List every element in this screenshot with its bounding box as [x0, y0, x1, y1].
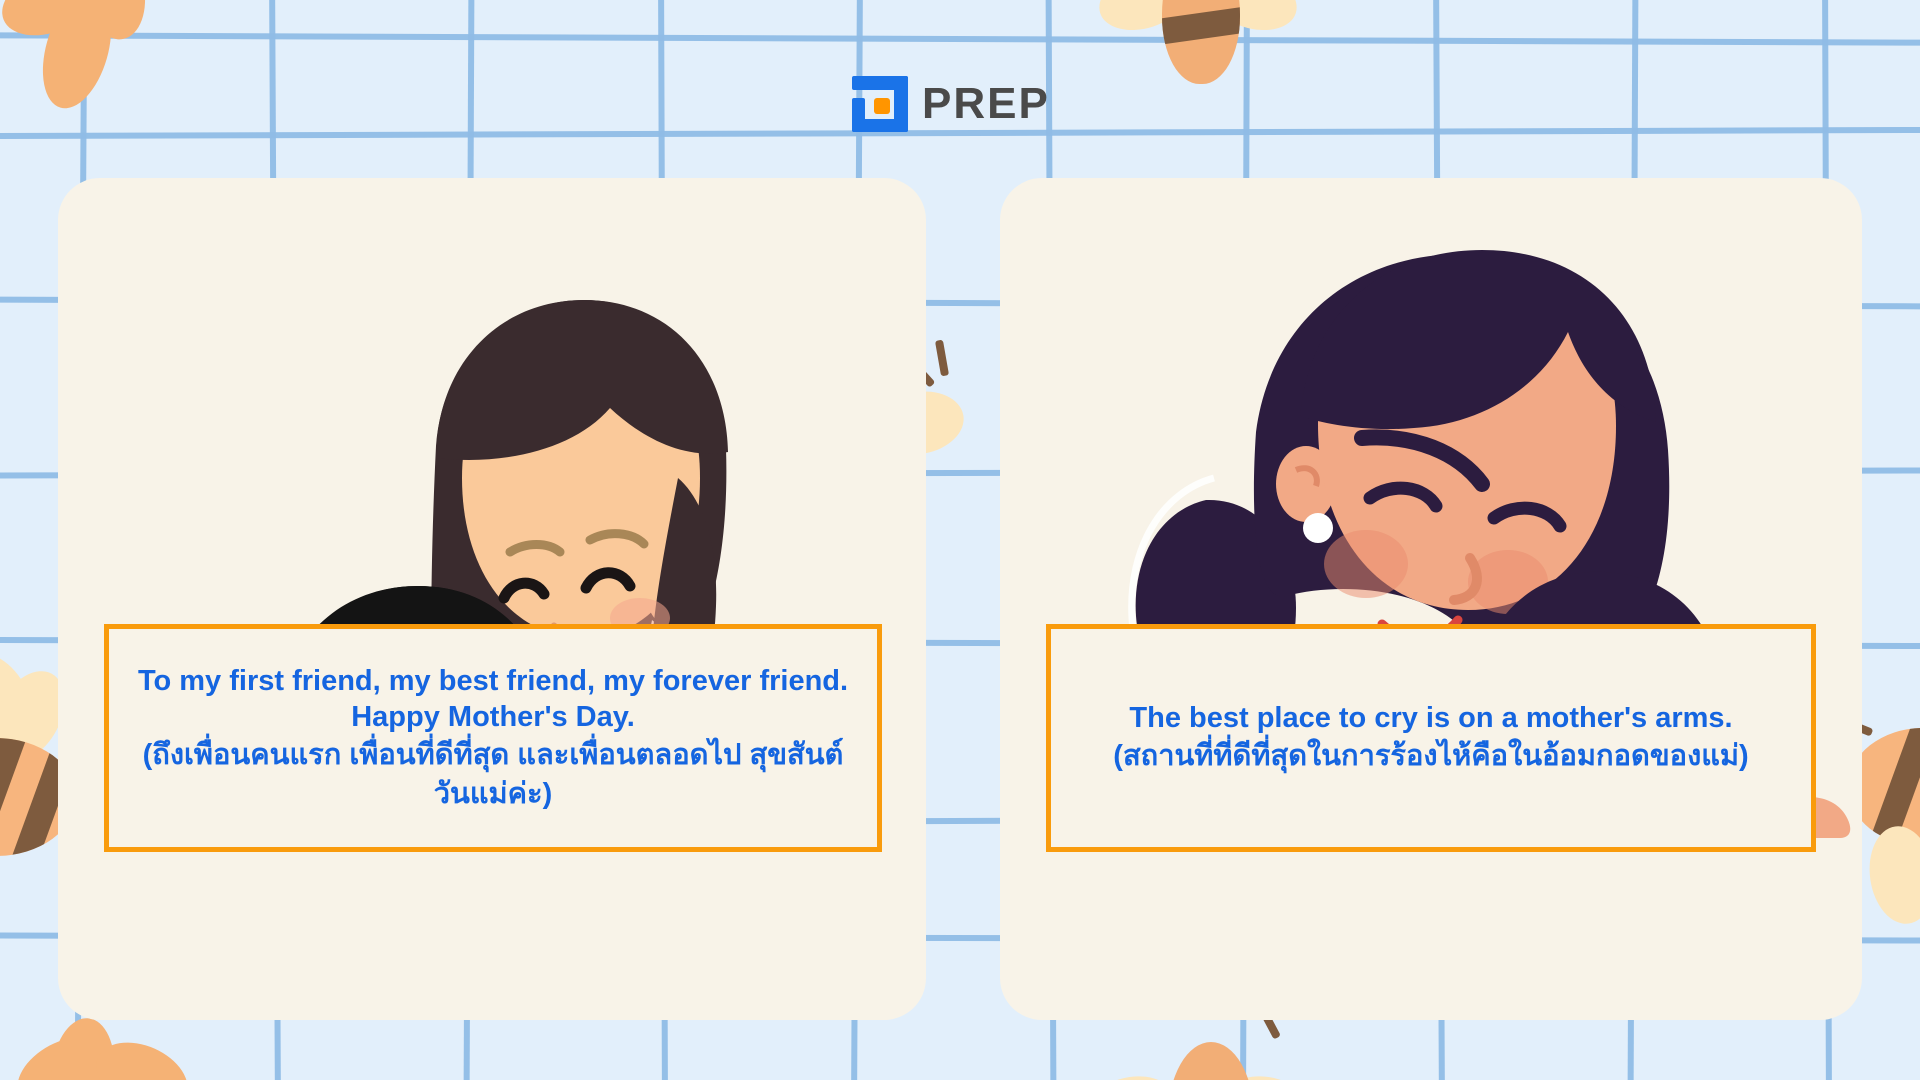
flower-top-left	[0, 0, 190, 140]
bee-body	[1168, 1042, 1254, 1080]
bee-bottom-center	[1120, 1020, 1310, 1080]
logo-bar-bottom	[852, 119, 908, 132]
grid-line-horizontal	[0, 32, 1920, 46]
logo-orange-square	[874, 98, 890, 114]
quote-box-right: The best place to cry is on a mother's a…	[1046, 624, 1816, 852]
quote-english: To my first friend, my best friend, my f…	[125, 663, 861, 736]
bee-body	[1162, 0, 1240, 84]
bee-antenna	[935, 340, 949, 377]
prep-bracket-logo-icon	[852, 76, 908, 132]
quote-thai: (ถึงเพื่อนคนแรก เพื่อนที่ดีที่สุด และเพื…	[125, 736, 861, 814]
brand-logo[interactable]: PREP	[852, 76, 1050, 132]
quote-box-left: To my first friend, my best friend, my f…	[104, 624, 882, 852]
card-left: To my first friend, my best friend, my f…	[58, 178, 926, 1020]
bee-stripe	[1162, 3, 1240, 47]
bee-wing	[1076, 1066, 1180, 1080]
bee-top-center-right	[1110, 0, 1280, 94]
quote-english: The best place to cry is on a mother's a…	[1129, 700, 1732, 737]
quote-thai: (สถานที่ที่ดีที่สุดในการร้องไห้คือในอ้อม…	[1113, 737, 1748, 776]
mother-earring	[1303, 513, 1333, 543]
card-right: The best place to cry is on a mother's a…	[1000, 178, 1862, 1020]
brand-logo-text: PREP	[922, 82, 1050, 126]
poster-canvas: PREP	[0, 0, 1920, 1080]
mother-cheek-left	[1324, 530, 1408, 598]
